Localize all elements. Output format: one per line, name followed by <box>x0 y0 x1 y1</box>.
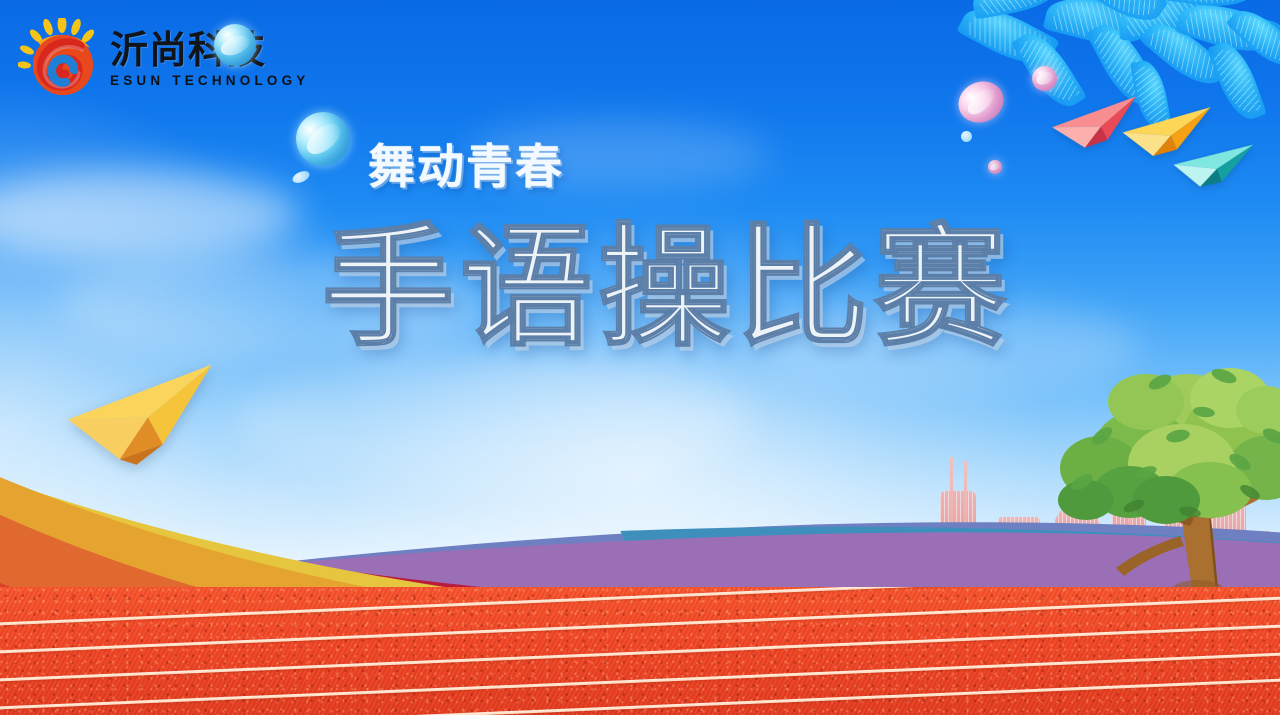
bubble-mini-cyan <box>961 131 972 142</box>
running-track <box>0 587 1280 715</box>
logo-name-cn: 沂尚科技 <box>110 31 310 69</box>
tree-icon <box>1038 340 1280 610</box>
paper-plane-teal-icon <box>1170 143 1258 194</box>
sun-swirl-logo-icon <box>18 18 104 100</box>
bubble-pink-medium <box>1032 66 1057 91</box>
poster-subtitle: 舞动青春 <box>368 128 564 197</box>
brand-logo[interactable]: 沂尚科技 ESUN TECHNOLOGY <box>18 18 310 100</box>
poster-title: 手语操比赛 <box>322 222 1012 354</box>
logo-name-en: ESUN TECHNOLOGY <box>110 74 310 88</box>
bubble-mini-pink <box>988 160 1002 174</box>
poster-canvas: 沂尚科技 ESUN TECHNOLOGY 舞动青春 手语操比赛 <box>0 0 1280 715</box>
logo-wordmark: 沂尚科技 ESUN TECHNOLOGY <box>110 31 310 88</box>
logo-bubble-icon <box>214 24 256 66</box>
